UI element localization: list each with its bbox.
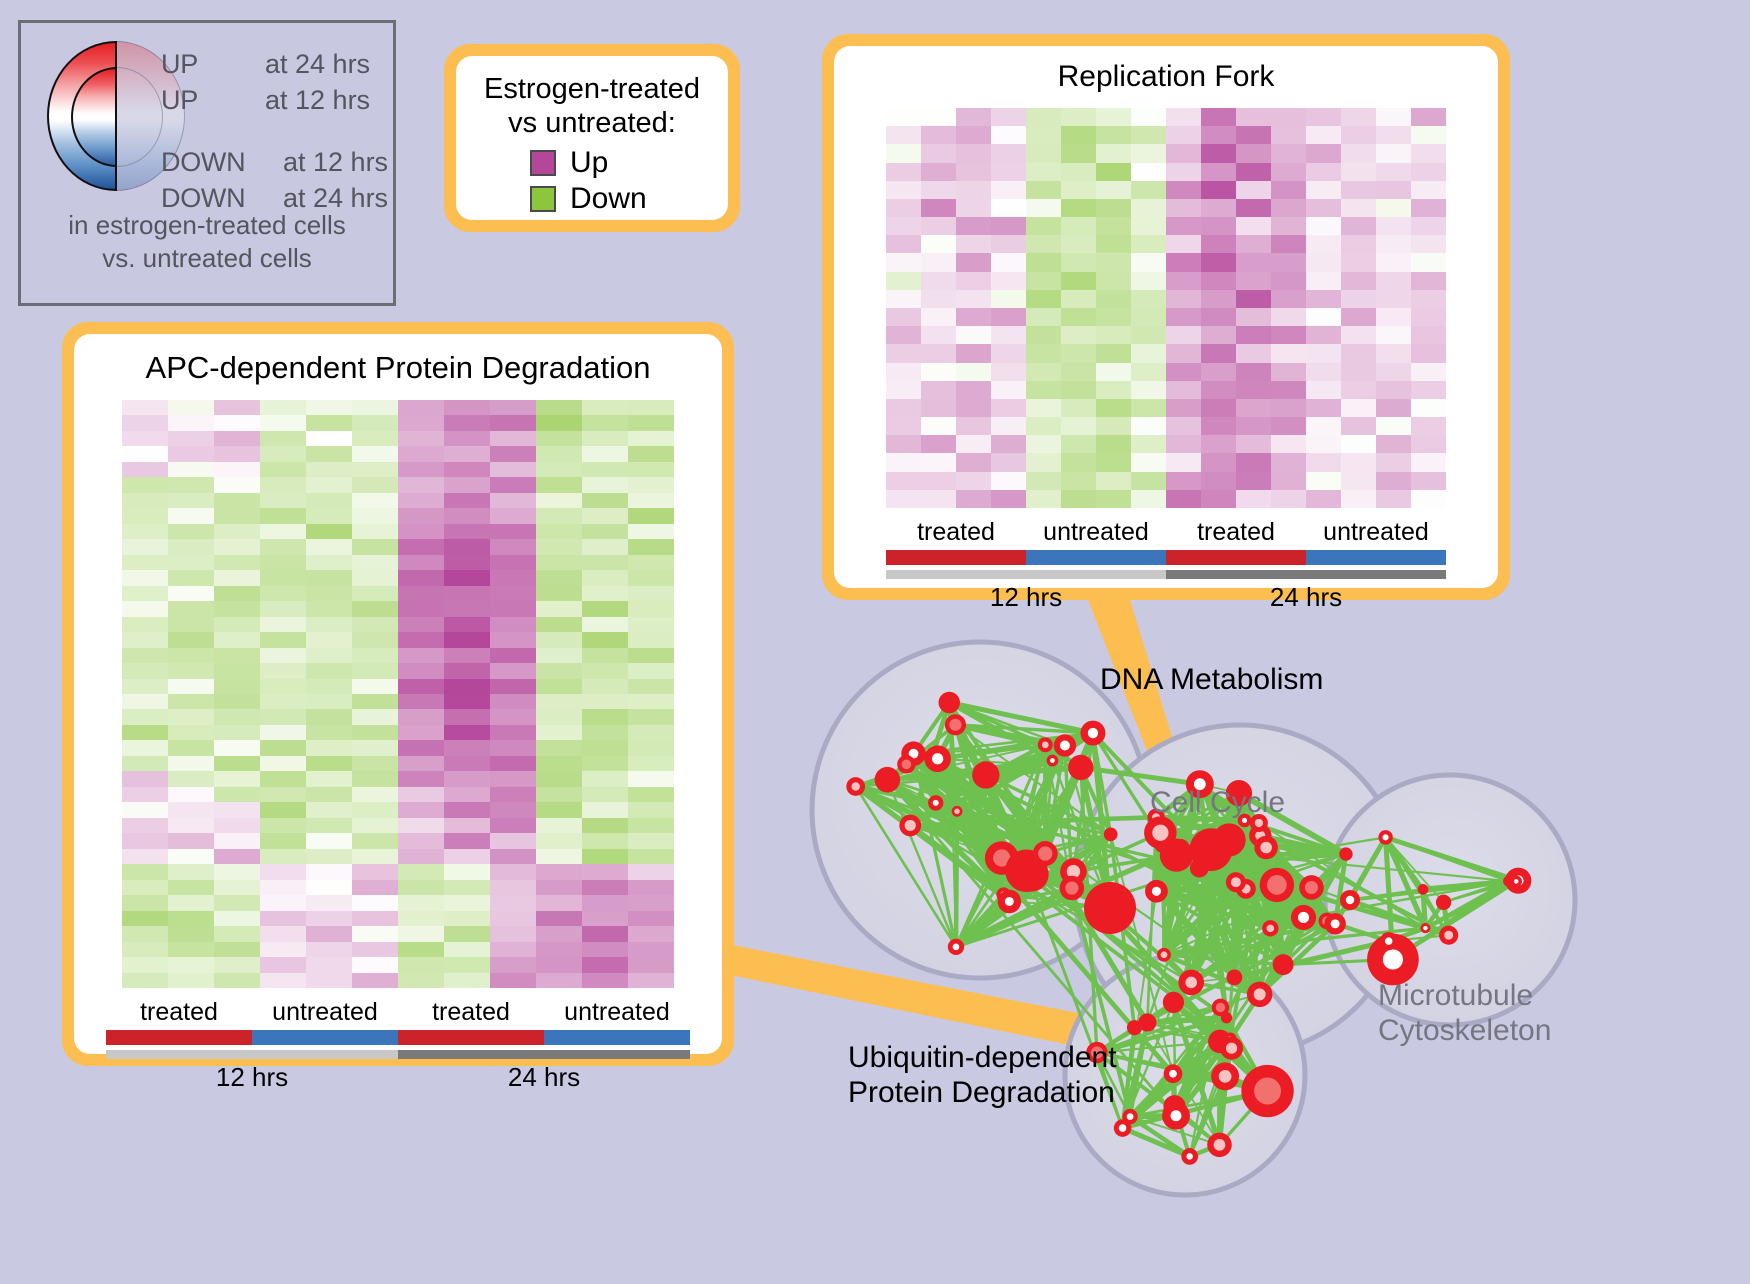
heatmap-cell xyxy=(444,493,490,508)
heatmap-cell xyxy=(1306,253,1341,271)
heatmap-cell xyxy=(1376,217,1411,235)
heatmap-cell xyxy=(1411,108,1446,126)
heatmap-cell xyxy=(1411,399,1446,417)
heatmap-cell xyxy=(921,453,956,471)
heatmap-cell xyxy=(921,344,956,362)
heatmap-cell xyxy=(1166,435,1201,453)
heatmap-cell xyxy=(444,895,490,910)
heatmap-cell xyxy=(260,446,306,461)
colorwheel-caption-line2: vs. untreated cells xyxy=(21,242,393,275)
heatmap-cell xyxy=(582,740,628,755)
heatmap-cell xyxy=(1306,144,1341,162)
heatmap-cell xyxy=(628,725,674,740)
heatmap-cell xyxy=(582,802,628,817)
heatmap-cell xyxy=(306,570,352,585)
up-down-key-title: Estrogen-treated vs untreated: xyxy=(456,72,728,140)
heatmap-cell xyxy=(1271,435,1306,453)
heatmap-cell xyxy=(582,555,628,570)
heatmap-cell xyxy=(628,415,674,430)
heatmap-cell xyxy=(536,431,582,446)
heatmap-cell xyxy=(1306,399,1341,417)
heatmap-cell xyxy=(1061,272,1096,290)
heatmap-cell xyxy=(536,477,582,492)
heatmap-cell xyxy=(886,272,921,290)
heatmap-cell xyxy=(1236,472,1271,490)
heatmap-cell xyxy=(628,462,674,477)
heatmap-cell xyxy=(1026,181,1061,199)
heatmap-cell xyxy=(991,272,1026,290)
heatmap-cell xyxy=(1096,490,1131,508)
timepoint-bar-0 xyxy=(106,1050,398,1059)
heatmap-cell xyxy=(1026,126,1061,144)
heatmap-cell xyxy=(582,880,628,895)
heatmap-cell xyxy=(628,818,674,833)
heatmap-cell xyxy=(628,880,674,895)
heatmap-cell xyxy=(306,756,352,771)
heatmap-cell xyxy=(214,833,260,848)
heatmap-cell xyxy=(122,508,168,523)
heatmap-cell xyxy=(306,524,352,539)
heatmap-cell xyxy=(1026,199,1061,217)
heatmap-cell xyxy=(306,601,352,616)
heatmap-cell xyxy=(1341,217,1376,235)
heatmap-cell xyxy=(1166,181,1201,199)
network-node xyxy=(1273,954,1294,975)
colorwheel-row-2-direction: DOWN xyxy=(161,147,245,178)
heatmap-cell xyxy=(352,446,398,461)
heatmap-cell xyxy=(991,181,1026,199)
heatmap-cell xyxy=(168,973,214,988)
network-node xyxy=(1104,827,1118,841)
apc-degradation-title: APC-dependent Protein Degradation xyxy=(74,334,722,386)
heatmap-cell xyxy=(1376,363,1411,381)
heatmap-cell xyxy=(1376,126,1411,144)
heatmap-cell xyxy=(444,942,490,957)
heatmap-cell xyxy=(490,709,536,724)
network-node xyxy=(1378,830,1392,844)
heatmap-cell xyxy=(1411,363,1446,381)
heatmap-cell xyxy=(444,632,490,647)
heatmap-cell xyxy=(260,586,306,601)
condition-bar-1 xyxy=(1026,550,1166,565)
heatmap-cell xyxy=(582,957,628,972)
heatmap-cell xyxy=(1411,235,1446,253)
heatmap-cell xyxy=(352,601,398,616)
heatmap-cell xyxy=(306,679,352,694)
heatmap-cell xyxy=(1306,472,1341,490)
heatmap-cell xyxy=(628,957,674,972)
heatmap-cell xyxy=(1236,453,1271,471)
heatmap-cell xyxy=(1166,472,1201,490)
heatmap-cell xyxy=(1166,290,1201,308)
heatmap-cell xyxy=(1376,417,1411,435)
heatmap-cell xyxy=(1096,308,1131,326)
heatmap-cell xyxy=(214,942,260,957)
heatmap-cell xyxy=(1131,290,1166,308)
heatmap-cell xyxy=(1411,163,1446,181)
heatmap-cell xyxy=(1236,163,1271,181)
heatmap-cell xyxy=(1341,363,1376,381)
heatmap-cell xyxy=(398,679,444,694)
replication-fork-axis: treated untreated treated untreated 12 h… xyxy=(886,518,1446,613)
heatmap-cell xyxy=(1306,272,1341,290)
heatmap-cell xyxy=(352,632,398,647)
heatmap-cell xyxy=(956,363,991,381)
heatmap-cell xyxy=(1341,144,1376,162)
heatmap-cell xyxy=(886,235,921,253)
heatmap-cell xyxy=(352,617,398,632)
heatmap-cell xyxy=(1026,399,1061,417)
heatmap-cell xyxy=(1166,344,1201,362)
heatmap-cell xyxy=(214,694,260,709)
heatmap-cell xyxy=(628,694,674,709)
heatmap-cell xyxy=(444,849,490,864)
heatmap-cell xyxy=(921,490,956,508)
heatmap-cell xyxy=(168,555,214,570)
heatmap-cell xyxy=(260,911,306,926)
heatmap-cell xyxy=(260,493,306,508)
heatmap-cell xyxy=(306,864,352,879)
network-node xyxy=(899,815,921,837)
heatmap-cell xyxy=(991,472,1026,490)
heatmap-cell xyxy=(1131,108,1166,126)
heatmap-cell xyxy=(1201,490,1236,508)
colorwheel-caption: in estrogen-treated cells vs. untreated … xyxy=(21,209,393,276)
heatmap-cell xyxy=(168,663,214,678)
network-node xyxy=(1211,1062,1239,1090)
heatmap-cell xyxy=(490,880,536,895)
condition-bar-0 xyxy=(106,1030,252,1045)
heatmap-cell xyxy=(168,586,214,601)
heatmap-cell xyxy=(628,508,674,523)
heatmap-cell xyxy=(921,108,956,126)
heatmap-cell xyxy=(1376,235,1411,253)
heatmap-cell xyxy=(398,802,444,817)
heatmap-cell xyxy=(1271,199,1306,217)
heatmap-cell xyxy=(398,617,444,632)
heatmap-cell xyxy=(582,849,628,864)
heatmap-cell xyxy=(398,926,444,941)
heatmap-cell xyxy=(582,431,628,446)
heatmap-cell xyxy=(214,818,260,833)
heatmap-cell xyxy=(398,818,444,833)
heatmap-cell xyxy=(1411,308,1446,326)
heatmap-cell xyxy=(628,895,674,910)
heatmap-cell xyxy=(398,462,444,477)
network-node xyxy=(875,767,901,793)
heatmap-cell xyxy=(1411,381,1446,399)
heatmap-cell xyxy=(490,524,536,539)
heatmap-cell xyxy=(1166,326,1201,344)
heatmap-cell xyxy=(536,771,582,786)
heatmap-cell xyxy=(352,880,398,895)
network-node xyxy=(1080,721,1105,746)
heatmap-cell xyxy=(214,973,260,988)
heatmap-cell xyxy=(122,446,168,461)
heatmap-cell xyxy=(398,570,444,585)
condition-bar-3 xyxy=(1306,550,1446,565)
heatmap-cell xyxy=(490,942,536,957)
network-node xyxy=(1190,859,1209,878)
heatmap-cell xyxy=(122,648,168,663)
heatmap-cell xyxy=(1341,381,1376,399)
network-node xyxy=(1439,926,1458,945)
network-node xyxy=(1420,923,1430,933)
heatmap-cell xyxy=(168,679,214,694)
heatmap-cell xyxy=(628,477,674,492)
heatmap-cell xyxy=(921,199,956,217)
heatmap-cell xyxy=(582,539,628,554)
heatmap-cell xyxy=(1026,235,1061,253)
heatmap-cell xyxy=(214,926,260,941)
heatmap-cell xyxy=(1026,253,1061,271)
heatmap-cell xyxy=(398,648,444,663)
heatmap-cell xyxy=(886,453,921,471)
heatmap-cell xyxy=(1061,290,1096,308)
heatmap-cell xyxy=(352,740,398,755)
heatmap-cell xyxy=(398,663,444,678)
heatmap-cell xyxy=(1306,381,1341,399)
heatmap-cell xyxy=(628,617,674,632)
heatmap-cell xyxy=(260,895,306,910)
heatmap-cell xyxy=(1271,399,1306,417)
heatmap-cell xyxy=(582,508,628,523)
heatmap-cell xyxy=(886,399,921,417)
condition-label-3: untreated xyxy=(1306,518,1446,547)
heatmap-cell xyxy=(1096,217,1131,235)
heatmap-cell xyxy=(1061,181,1096,199)
heatmap-cell xyxy=(1236,199,1271,217)
heatmap-cell xyxy=(168,446,214,461)
heatmap-cell xyxy=(1166,144,1201,162)
heatmap-cell xyxy=(582,771,628,786)
heatmap-cell xyxy=(1201,435,1236,453)
heatmap-cell xyxy=(1306,417,1341,435)
heatmap-cell xyxy=(398,632,444,647)
heatmap-cell xyxy=(582,942,628,957)
heatmap-cell xyxy=(582,663,628,678)
heatmap-cell xyxy=(168,802,214,817)
cluster-label-dna-metabolism: DNA Metabolism xyxy=(1100,662,1323,697)
heatmap-cell xyxy=(1306,181,1341,199)
heatmap-cell xyxy=(1096,417,1131,435)
heatmap-cell xyxy=(991,163,1026,181)
heatmap-cell xyxy=(1411,181,1446,199)
heatmap-cell xyxy=(536,462,582,477)
heatmap-cell xyxy=(628,911,674,926)
heatmap-cell xyxy=(490,756,536,771)
heatmap-cell xyxy=(168,771,214,786)
heatmap-cell xyxy=(122,957,168,972)
heatmap-cell xyxy=(352,570,398,585)
heatmap-cell xyxy=(582,632,628,647)
heatmap-cell xyxy=(306,555,352,570)
heatmap-cell xyxy=(1166,199,1201,217)
heatmap-cell xyxy=(991,344,1026,362)
heatmap-cell xyxy=(956,326,991,344)
heatmap-cell xyxy=(214,508,260,523)
heatmap-cell xyxy=(1376,163,1411,181)
heatmap-cell xyxy=(1411,417,1446,435)
heatmap-cell xyxy=(956,272,991,290)
heatmap-cell xyxy=(1341,326,1376,344)
heatmap-cell xyxy=(1271,272,1306,290)
heatmap-cell xyxy=(536,740,582,755)
heatmap-cell xyxy=(122,833,168,848)
heatmap-cell xyxy=(1166,490,1201,508)
heatmap-cell xyxy=(921,181,956,199)
heatmap-cell xyxy=(122,911,168,926)
heatmap-cell xyxy=(306,586,352,601)
heatmap-cell xyxy=(1341,472,1376,490)
heatmap-cell xyxy=(1061,435,1096,453)
heatmap-cell xyxy=(490,539,536,554)
heatmap-cell xyxy=(444,663,490,678)
heatmap-cell xyxy=(352,508,398,523)
heatmap-cell xyxy=(1271,253,1306,271)
heatmap-cell xyxy=(921,472,956,490)
heatmap-cell xyxy=(398,493,444,508)
network-node xyxy=(1033,841,1058,866)
heatmap-cell xyxy=(1306,344,1341,362)
heatmap-cell xyxy=(1271,290,1306,308)
heatmap-cell xyxy=(260,942,306,957)
heatmap-cell xyxy=(956,126,991,144)
heatmap-cell xyxy=(306,833,352,848)
heatmap-cell xyxy=(1376,272,1411,290)
timepoint-labels: 12 hrs 24 hrs xyxy=(106,1062,690,1093)
heatmap-cell xyxy=(352,477,398,492)
heatmap-cell xyxy=(444,679,490,694)
heatmap-cell xyxy=(582,477,628,492)
key-label-down: Down xyxy=(570,182,647,216)
heatmap-cell xyxy=(352,942,398,957)
network-node xyxy=(1207,1133,1232,1158)
heatmap-cell xyxy=(1201,163,1236,181)
network-node xyxy=(1291,905,1316,930)
heatmap-cell xyxy=(536,787,582,802)
timepoint-bar-1 xyxy=(1166,570,1446,579)
heatmap-cell xyxy=(991,126,1026,144)
condition-bar-2 xyxy=(398,1030,544,1045)
timepoint-label-0: 12 hrs xyxy=(106,1062,398,1093)
heatmap-cell xyxy=(1166,126,1201,144)
heatmap-cell xyxy=(168,942,214,957)
heatmap-cell xyxy=(352,663,398,678)
key-swatch-up xyxy=(530,150,556,176)
heatmap-cell xyxy=(260,771,306,786)
heatmap-cell xyxy=(1271,453,1306,471)
heatmap-cell xyxy=(886,417,921,435)
heatmap-cell xyxy=(1236,363,1271,381)
heatmap-cell xyxy=(1411,490,1446,508)
heatmap-cell xyxy=(1271,181,1306,199)
heatmap-cell xyxy=(1166,235,1201,253)
heatmap-cell xyxy=(306,926,352,941)
heatmap-cell xyxy=(306,911,352,926)
heatmap-cell xyxy=(628,431,674,446)
heatmap-cell xyxy=(628,756,674,771)
heatmap-cell xyxy=(628,709,674,724)
heatmap-cell xyxy=(1131,417,1166,435)
heatmap-cell xyxy=(260,725,306,740)
heatmap-cell xyxy=(1201,217,1236,235)
heatmap-cell xyxy=(352,911,398,926)
network-node xyxy=(1221,1012,1232,1023)
heatmap-cell xyxy=(1026,272,1061,290)
heatmap-cell xyxy=(921,217,956,235)
heatmap-cell xyxy=(444,694,490,709)
heatmap-cell xyxy=(1166,399,1201,417)
heatmap-cell xyxy=(1131,199,1166,217)
heatmap-cell xyxy=(306,880,352,895)
heatmap-cell xyxy=(306,648,352,663)
condition-bar-0 xyxy=(886,550,1026,565)
heatmap-cell xyxy=(1096,163,1131,181)
heatmap-cell xyxy=(1061,453,1096,471)
heatmap-cell xyxy=(1131,435,1166,453)
heatmap-cell xyxy=(628,663,674,678)
heatmap-cell xyxy=(1236,126,1271,144)
heatmap-cell xyxy=(122,524,168,539)
heatmap-cell xyxy=(306,895,352,910)
network-node xyxy=(1038,737,1053,752)
heatmap-cell xyxy=(1271,417,1306,435)
heatmap-cell xyxy=(1341,344,1376,362)
condition-bar-2 xyxy=(1166,550,1306,565)
heatmap-cell xyxy=(1306,126,1341,144)
heatmap-cell xyxy=(1341,490,1376,508)
heatmap-cell xyxy=(122,617,168,632)
heatmap-cell xyxy=(214,462,260,477)
key-label-up: Up xyxy=(570,146,608,180)
heatmap-cell xyxy=(490,555,536,570)
network-node xyxy=(1060,876,1084,900)
network-node xyxy=(948,939,964,955)
heatmap-cell xyxy=(168,415,214,430)
heatmap-cell xyxy=(1201,472,1236,490)
heatmap-cell xyxy=(628,942,674,957)
heatmap-cell xyxy=(1026,290,1061,308)
heatmap-cell xyxy=(1096,435,1131,453)
cluster-label-cell-cycle: Cell Cycle xyxy=(1150,785,1285,820)
network-node xyxy=(1163,992,1184,1013)
heatmap-cell xyxy=(1411,472,1446,490)
heatmap-cell xyxy=(306,415,352,430)
heatmap-cell xyxy=(490,833,536,848)
heatmap-cell xyxy=(214,771,260,786)
expression-colorwheel-legend: UP at 24 hrs UP at 12 hrs DOWN at 12 hrs… xyxy=(18,20,396,306)
heatmap-cell xyxy=(1096,326,1131,344)
heatmap-cell xyxy=(628,524,674,539)
heatmap-cell xyxy=(490,462,536,477)
heatmap-cell xyxy=(1096,453,1131,471)
heatmap-cell xyxy=(1236,399,1271,417)
heatmap-cell xyxy=(1096,253,1131,271)
heatmap-cell xyxy=(1306,435,1341,453)
condition-label-0: treated xyxy=(886,518,1026,547)
heatmap-cell xyxy=(306,973,352,988)
heatmap-cell xyxy=(536,493,582,508)
up-down-key-row-down: Down xyxy=(530,182,728,216)
heatmap-cell xyxy=(1376,308,1411,326)
heatmap-cell xyxy=(536,539,582,554)
heatmap-cell xyxy=(1341,399,1376,417)
heatmap-cell xyxy=(1306,217,1341,235)
heatmap-cell xyxy=(1096,363,1131,381)
heatmap-cell xyxy=(921,253,956,271)
heatmap-cell xyxy=(398,756,444,771)
